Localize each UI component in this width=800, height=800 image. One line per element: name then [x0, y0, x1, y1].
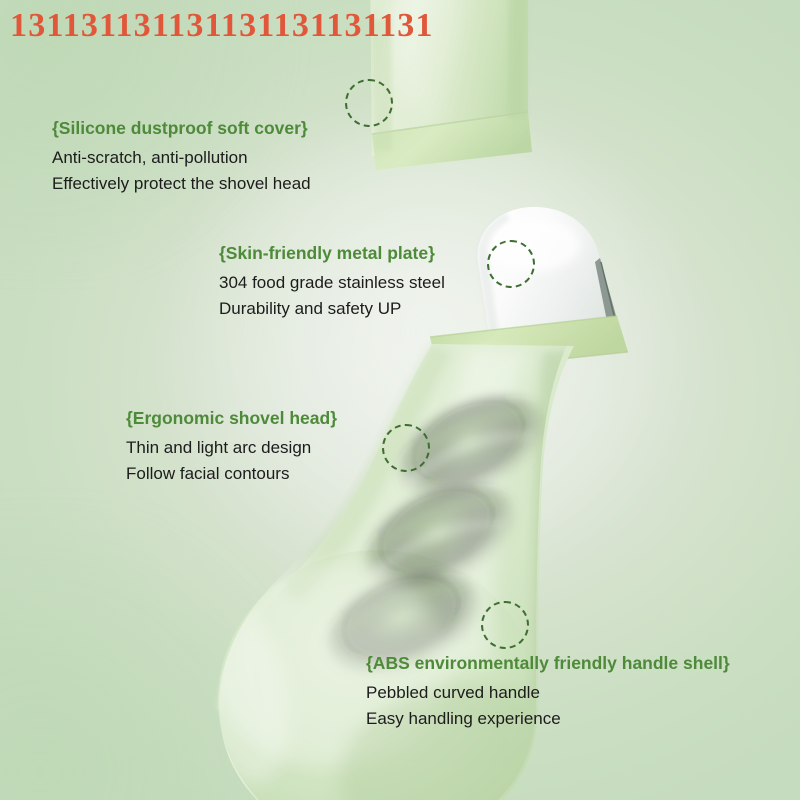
callout-metal-plate: {Skin-friendly metal plate} 304 food gra…: [219, 243, 445, 322]
callout-line-2: Durability and safety UP: [219, 296, 445, 322]
marker-circle-metal-plate: [487, 240, 535, 288]
callout-line-1: Anti-scratch, anti-pollution: [52, 145, 311, 171]
callout-line-2: Easy handling experience: [366, 706, 730, 732]
callout-title: {Skin-friendly metal plate}: [219, 243, 445, 265]
callout-line-1: Thin and light arc design: [126, 435, 337, 461]
callout-handle-shell: {ABS environmentally friendly handle she…: [366, 653, 730, 732]
callout-title: {Ergonomic shovel head}: [126, 408, 337, 430]
callout-title: {ABS environmentally friendly handle she…: [366, 653, 730, 675]
marker-circle-handle-shell: [481, 601, 529, 649]
callout-line-1: 304 food grade stainless steel: [219, 270, 445, 296]
header-digit-strip: 131131131131131131131131: [10, 9, 434, 43]
callout-shovel-head: {Ergonomic shovel head} Thin and light a…: [126, 408, 337, 487]
marker-circle-silicone-cover: [345, 79, 393, 127]
callout-line-1: Pebbled curved handle: [366, 680, 730, 706]
callout-line-2: Effectively protect the shovel head: [52, 171, 311, 197]
product-infographic: 131131131131131131131131 {Silicone dustp…: [0, 0, 800, 800]
marker-circle-shovel-head: [382, 424, 430, 472]
callout-silicone-cover: {Silicone dustproof soft cover} Anti-scr…: [52, 118, 311, 197]
callout-line-2: Follow facial contours: [126, 461, 337, 487]
callout-title: {Silicone dustproof soft cover}: [52, 118, 311, 140]
